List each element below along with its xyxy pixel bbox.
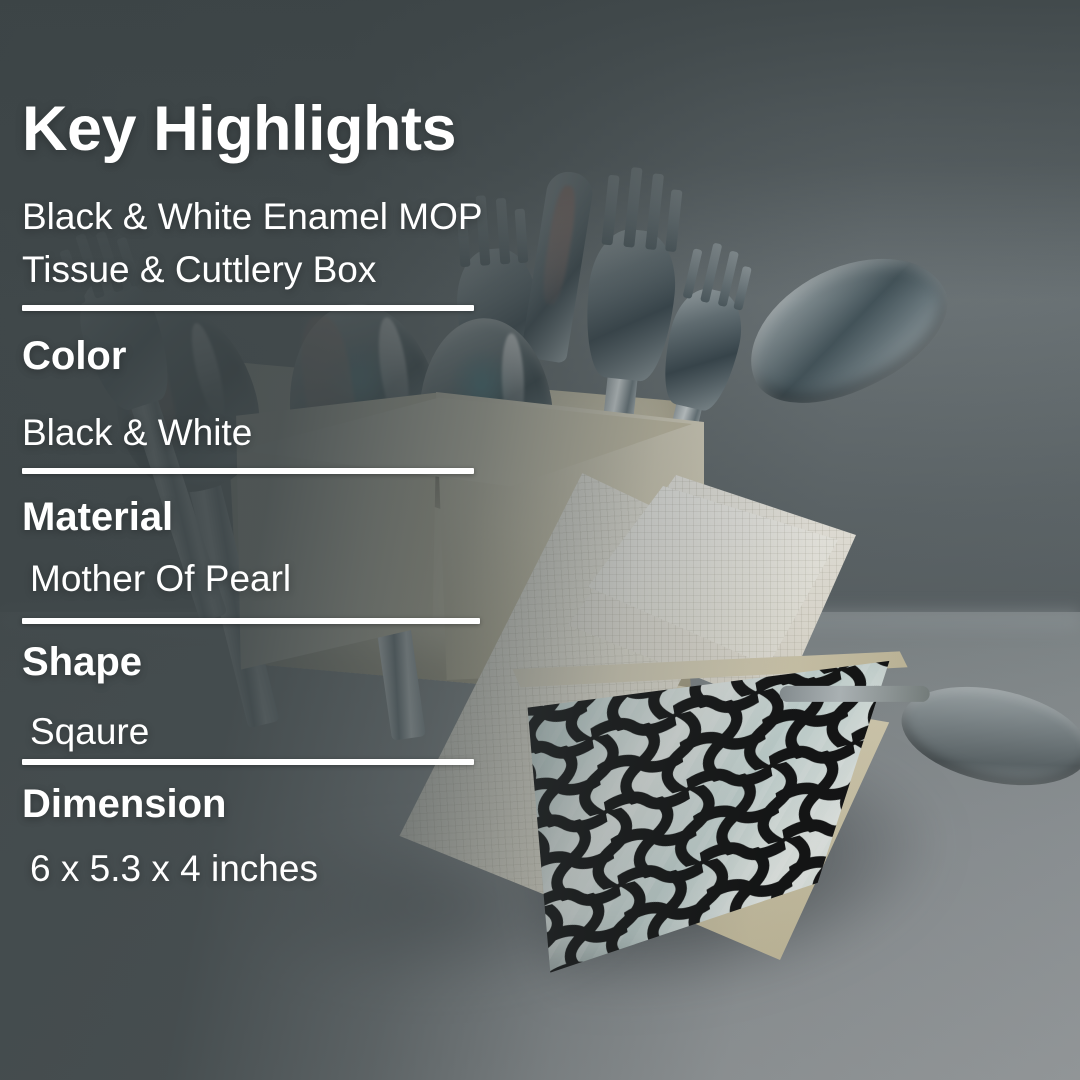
spec-value-dimension: 6 x 5.3 x 4 inches [30, 850, 318, 887]
divider-above-dimension [22, 759, 474, 765]
highlights-panel: Key Highlights Black & White Enamel MOP … [0, 0, 1080, 1080]
spec-label-color: Color [22, 336, 126, 376]
spec-label-material: Material [22, 497, 173, 537]
page-title: Key Highlights [22, 98, 456, 161]
product-name: Black & White Enamel MOP Tissue & Cuttle… [22, 190, 483, 297]
product-name-line-2: Tissue & Cuttlery Box [22, 243, 483, 296]
spec-label-dimension: Dimension [22, 784, 226, 824]
spec-value-shape: Sqaure [30, 713, 149, 750]
divider-above-shape [22, 618, 480, 624]
product-name-line-1: Black & White Enamel MOP [22, 190, 483, 243]
divider-above-color [22, 305, 474, 311]
spec-value-color: Black & White [22, 414, 252, 451]
divider-above-material [22, 468, 474, 474]
product-highlights-infographic: Key Highlights Black & White Enamel MOP … [0, 0, 1080, 1080]
spec-label-shape: Shape [22, 642, 142, 682]
spec-value-material: Mother Of Pearl [30, 560, 291, 597]
